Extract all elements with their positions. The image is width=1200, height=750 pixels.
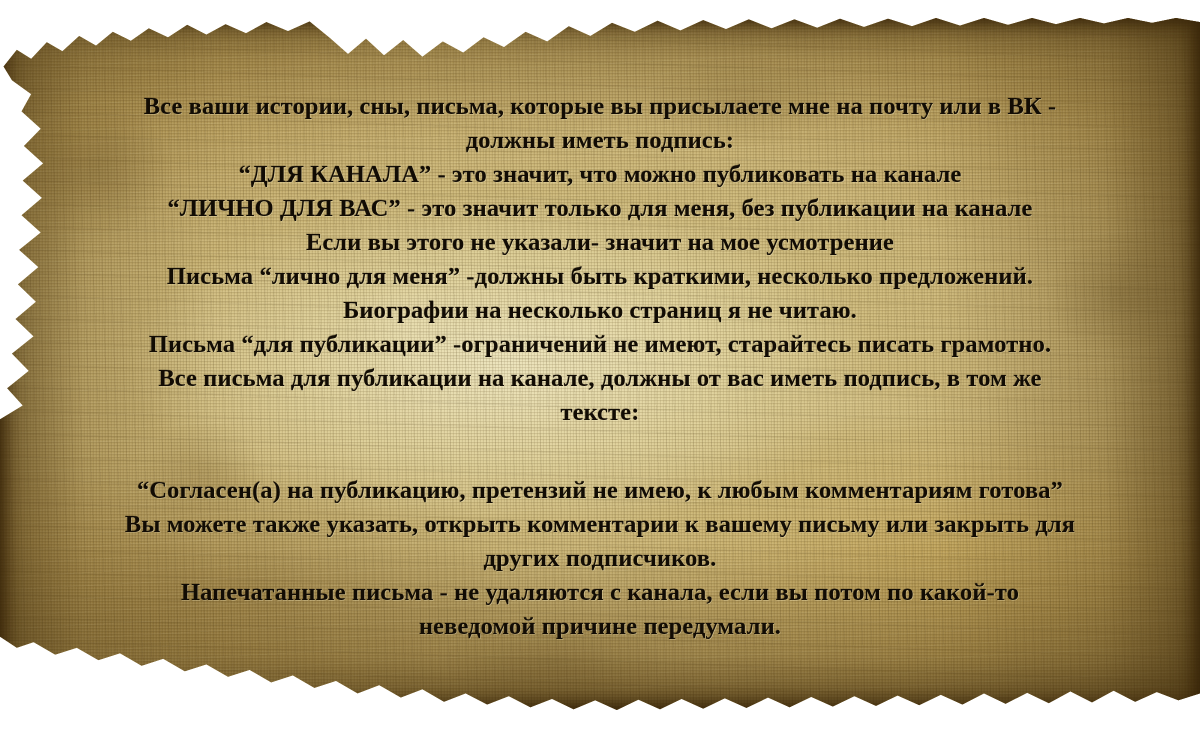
paragraph-rule-personal: “ЛИЧНО ДЛЯ ВАС” - это значит только для … (30, 192, 1170, 226)
text-line: Вы можете также указать, открыть коммент… (30, 508, 1170, 542)
text-line: “ДЛЯ КАНАЛА” - это значит, что можно пуб… (30, 158, 1170, 192)
text-line: Все ваши истории, сны, письма, которые в… (30, 90, 1170, 124)
text-line: должны иметь подпись: (30, 124, 1170, 158)
text-line: “ЛИЧНО ДЛЯ ВАС” - это значит только для … (30, 192, 1170, 226)
text-line: Письма “для публикации” -ограничений не … (30, 328, 1170, 362)
notice-text-block: Все ваши истории, сны, письма, которые в… (30, 90, 1170, 644)
text-line: тексте: (30, 396, 1170, 430)
paragraph-rule-for-channel: “ДЛЯ КАНАЛА” - это значит, что можно пуб… (30, 158, 1170, 192)
screenshot-canvas: Все ваши истории, сны, письма, которые в… (0, 0, 1200, 750)
paragraph-consent-quote: “Согласен(а) на публикацию, претензий не… (30, 474, 1170, 508)
notice-content: Все ваши истории, сны, письма, которые в… (0, 18, 1200, 710)
text-line: Если вы этого не указали- значит на мое … (30, 226, 1170, 260)
text-line: Все письма для публикации на канале, дол… (30, 362, 1170, 396)
text-line: “Согласен(а) на публикацию, претензий не… (30, 474, 1170, 508)
parchment-sheet: Все ваши истории, сны, письма, которые в… (0, 18, 1200, 710)
paragraph-rule-no-deletion: Напечатанные письма - не удаляются с кан… (30, 576, 1170, 644)
paragraph-rule-personal-length: Письма “лично для меня” -должны быть кра… (30, 260, 1170, 294)
text-line: других подписчиков. (30, 542, 1170, 576)
paragraph-rule-publication-length: Письма “для публикации” -ограничений не … (30, 328, 1170, 362)
text-line: Напечатанные письма - не удаляются с кан… (30, 576, 1170, 610)
text-line: неведомой причине передумали. (30, 610, 1170, 644)
text-line: Биографии на несколько страниц я не чита… (30, 294, 1170, 328)
paragraph-intro: Все ваши истории, сны, письма, которые в… (30, 90, 1170, 158)
text-line: Письма “лично для меня” -должны быть кра… (30, 260, 1170, 294)
paragraph-rule-comments: Вы можете также указать, открыть коммент… (30, 508, 1170, 576)
paragraph-spacer (30, 430, 1170, 474)
paragraph-rule-biography: Биографии на несколько страниц я не чита… (30, 294, 1170, 328)
paragraph-rule-unspecified: Если вы этого не указали- значит на мое … (30, 226, 1170, 260)
paragraph-rule-signature-required: Все письма для публикации на канале, дол… (30, 362, 1170, 430)
